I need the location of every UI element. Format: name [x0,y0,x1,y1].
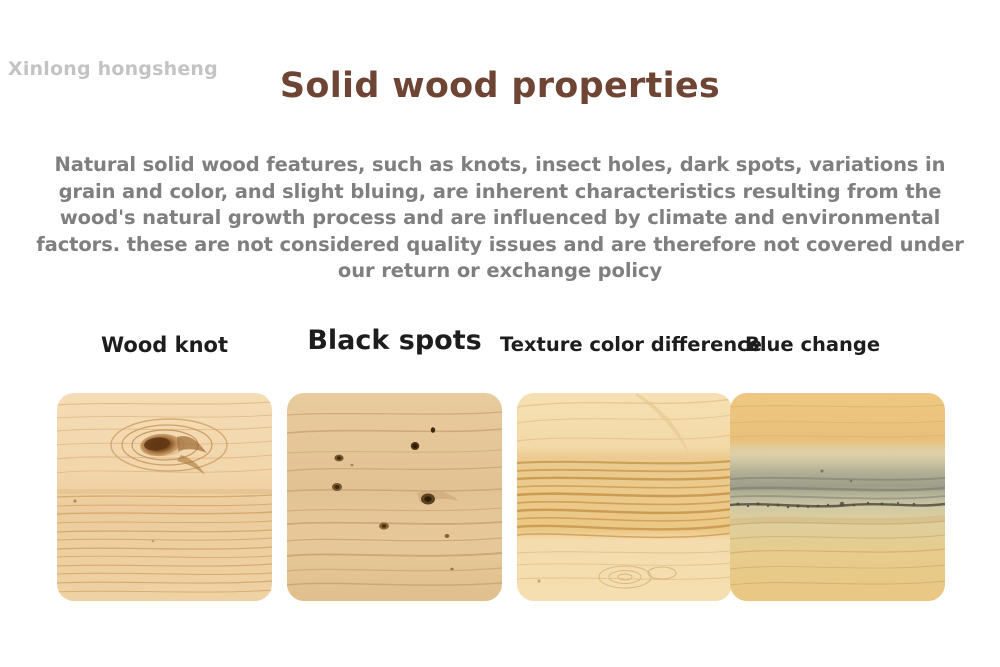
blue-change-icon [730,393,945,601]
texture-color-difference-icon [517,393,732,601]
intro-paragraph: Natural solid wood features, such as kno… [28,152,972,285]
sample-label-wood-knot: Wood knot [57,328,272,362]
sample-label-black-spots: Black spots [287,324,502,358]
page-title: Solid wood properties [0,66,1000,106]
sample-image-wood-knot [57,393,272,601]
wood-knot-icon [57,393,272,601]
sample-image-texture-color-difference [517,393,732,601]
sample-images-row [0,393,1000,601]
sample-label-blue-change: Blue change [745,328,945,362]
sample-labels-row: Wood knot Black spots Texture color diff… [0,328,1000,368]
black-spots-icon [287,393,502,601]
sample-image-blue-change [730,393,945,601]
sample-image-black-spots [287,393,502,601]
sample-label-texture-color-difference: Texture color difference [500,328,731,362]
